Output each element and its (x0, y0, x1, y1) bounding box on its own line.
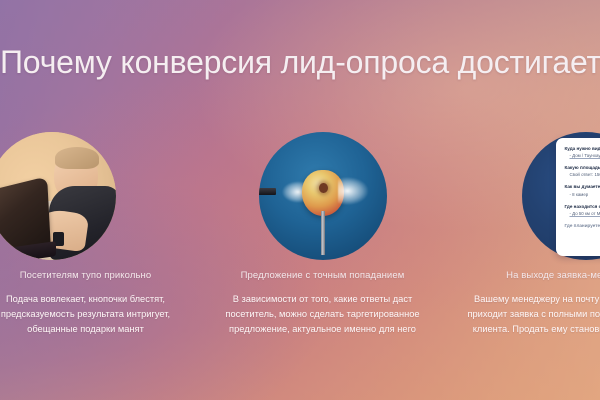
column-body-2: В зависимости от того, какие ответы даст… (215, 292, 430, 337)
survey-question: Где планируете хранить записи? (565, 223, 600, 229)
survey-item: Где находится объект? - До 50 км от МКАД (565, 204, 600, 217)
survey-question: Куда нужно видеонаблюдение? (565, 146, 600, 152)
survey-answer: - До 50 км от МКАД (570, 211, 600, 217)
person-hair (55, 147, 99, 169)
column-dream-lead: Куда нужно видеонаблюдение? - Дом / Таун… (430, 132, 600, 372)
column-body-1: Подача вовлекает, кнопочки блестят, пред… (0, 292, 193, 337)
survey-question: Какую площадь надо покрыть видеонаблюден… (565, 165, 600, 171)
photo-apple-bullet (259, 132, 387, 260)
columns-container: Посетителям тупо прикольно Подача вовлек… (0, 132, 600, 372)
survey-item: Куда нужно видеонаблюдение? - Дом / Таун… (565, 146, 600, 159)
survey-question: Как вы думаете, сколько вам потребуется … (565, 184, 600, 190)
slide-root: Почему конверсия лид-опроса достигает 30… (0, 0, 600, 400)
column-caption-2: Предложение с точным попаданием (241, 270, 405, 281)
impact-splash-right (338, 174, 382, 207)
survey-result-card: Куда нужно видеонаблюдение? - Дом / Таун… (556, 138, 600, 256)
survey-answer: - 8 камер (570, 192, 600, 198)
survey-item: Где планируете хранить записи? (565, 223, 600, 229)
column-caption-3: На выходе заявка-мечта (506, 270, 600, 281)
apple-stand (321, 211, 325, 255)
slide-title: Почему конверсия лид-опроса достигает 30… (0, 44, 600, 81)
survey-item: Как вы думаете, сколько вам потребуется … (565, 184, 600, 197)
survey-answer: Свой ответ: 150 (570, 172, 600, 178)
column-caption-1: Посетителям тупо прикольно (20, 270, 152, 281)
survey-item: Какую площадь надо покрыть видеонаблюден… (565, 165, 600, 178)
survey-question: Где находится объект? (565, 204, 600, 210)
circle-image-1-wrap (0, 132, 116, 260)
bullet-hole (319, 183, 328, 193)
survey-answer: - Дом / Таунхаус (570, 153, 600, 159)
column-visitor-fun: Посетителям тупо прикольно Подача вовлек… (0, 132, 215, 372)
circle-image-2-wrap (259, 132, 387, 260)
photo-man-with-laptop (0, 132, 116, 260)
column-targeted-offer: Предложение с точным попаданием В зависи… (215, 132, 430, 372)
circle-image-3-wrap: Куда нужно видеонаблюдение? - Дом / Таун… (522, 132, 600, 260)
column-body-3: Вашему менеджеру на почту или в CRM прих… (454, 292, 600, 337)
